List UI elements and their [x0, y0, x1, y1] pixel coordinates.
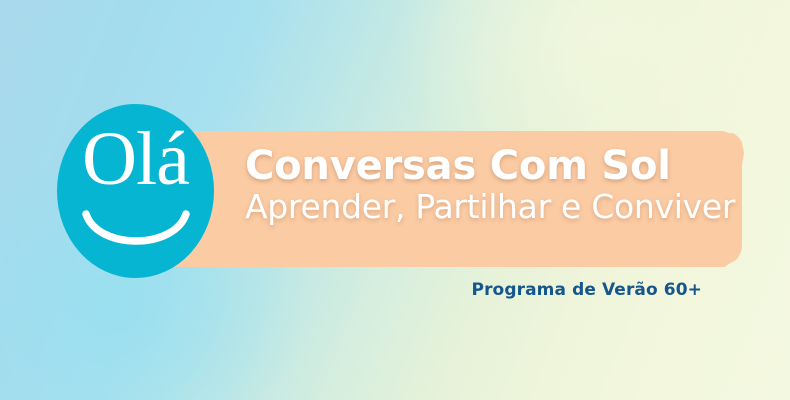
smile-curve-icon: [82, 210, 190, 256]
program-tagline: Programa de Verão 60+: [472, 280, 702, 300]
promo-banner: Olá Conversas Com Sol Aprender, Partilha…: [0, 0, 790, 400]
headline-text-block: Conversas Com Sol Aprender, Partilhar e …: [245, 146, 735, 223]
ola-logo[interactable]: Olá: [57, 104, 214, 278]
logo-wordmark: Olá: [57, 121, 214, 197]
page-subtitle: Aprender, Partilhar e Conviver: [245, 190, 735, 223]
page-title: Conversas Com Sol: [245, 146, 735, 186]
